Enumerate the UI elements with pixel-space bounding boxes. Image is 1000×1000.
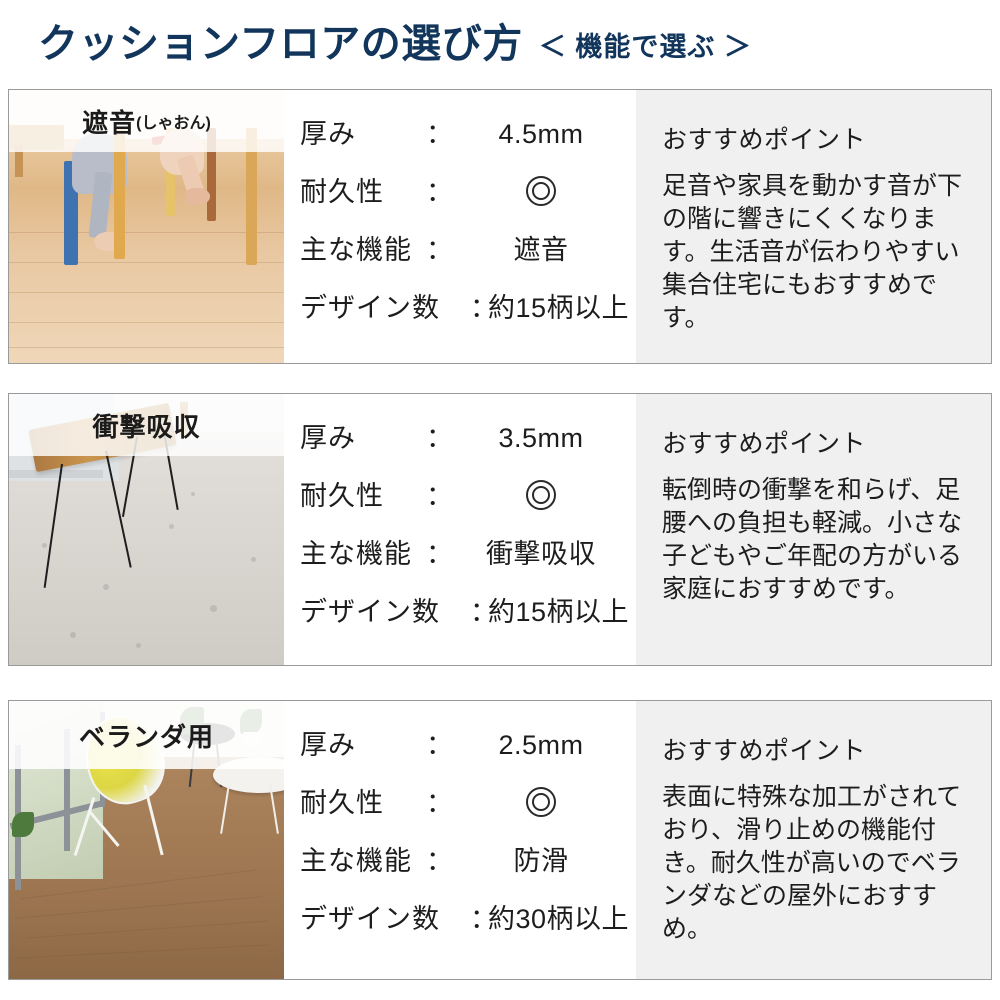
feature-card-shaon: 遮音 (しゃおん) 厚み ： 4.5mm 耐久性 ： 主な機能 ： 遮音 デザイ… (8, 89, 992, 364)
floor-plank-line (9, 292, 284, 293)
card-recommendation: おすすめポイント 足音や家具を動かす音が下の階に響きにくくなります。生活音が伝わ… (636, 90, 991, 363)
spec-row-durability: 耐久性 ： (300, 781, 636, 839)
photo-baseboard (9, 470, 103, 478)
floor-speckle (136, 643, 141, 648)
card-badge-label: 衝撃吸収 (92, 407, 200, 444)
spec-colon: ： (470, 897, 488, 936)
spec-row-thickness: 厚み ： 3.5mm (300, 416, 636, 474)
floor-grain-line (26, 921, 267, 939)
spec-row-main-function: 主な機能 ： 遮音 (300, 228, 636, 286)
spec-colon: ： (470, 286, 488, 325)
spec-value-design-count: 約15柄以上 (488, 590, 639, 629)
recommendation-body: 転倒時の衝撃を和らげ、足腰への負担も軽減。小さな子どもやご年配の方がいる家庭にお… (662, 474, 967, 606)
spec-colon: ： (426, 839, 460, 878)
card-spec-table: 厚み ： 3.5mm 耐久性 ： 主な機能 ： 衝撃吸収 デザイン数 ： 約15… (284, 394, 636, 665)
floor-plank-line (9, 322, 284, 323)
floor-speckle (103, 584, 109, 590)
recommendation-body: 足音や家具を動かす音が下の階に響きにくくなります。生活音が伝わりやすい集合住宅に… (662, 170, 967, 335)
spec-label-main-function: 主な機能 (300, 532, 426, 571)
spec-value-design-count: 約15柄以上 (488, 286, 639, 325)
card-photo-shaon: 遮音 (しゃおん) (9, 90, 284, 363)
double-circle-icon (526, 480, 556, 510)
card-badge: ベランダ用 (9, 701, 284, 769)
spec-row-design-count: デザイン数 ： 約15柄以上 (300, 590, 636, 648)
card-badge: 遮音 (しゃおん) (9, 90, 284, 152)
spec-label-thickness: 厚み (300, 723, 426, 762)
spec-colon: ： (426, 228, 460, 267)
floor-speckle (169, 524, 174, 529)
spec-row-design-count: デザイン数 ： 約15柄以上 (300, 286, 636, 344)
spec-colon: ： (426, 416, 460, 455)
spec-colon: ： (426, 170, 460, 209)
page-title: クッションフロアの選び方 (38, 24, 523, 64)
floor-grain-line (17, 945, 270, 959)
spec-value-main-function: 防滑 (460, 839, 636, 878)
spec-label-durability: 耐久性 (300, 474, 426, 513)
spec-row-main-function: 主な機能 ： 防滑 (300, 839, 636, 897)
photo-plant (12, 812, 34, 837)
spec-colon: ： (426, 474, 460, 513)
recommendation-heading: おすすめポイント (662, 731, 967, 767)
spec-label-design-count: デザイン数 (300, 897, 470, 936)
card-spec-table: 厚み ： 4.5mm 耐久性 ： 主な機能 ： 遮音 デザイン数 ： 約15柄以… (284, 90, 636, 363)
spec-row-thickness: 厚み ： 2.5mm (300, 723, 636, 781)
spec-value-thickness: 4.5mm (460, 119, 636, 150)
spec-value-main-function: 遮音 (460, 228, 636, 267)
spec-value-durability (460, 480, 636, 512)
spec-colon: ： (426, 723, 460, 762)
card-recommendation: おすすめポイント 転倒時の衝撃を和らげ、足腰への負担も軽減。小さな子どもやご年配… (636, 394, 991, 665)
floor-speckle (210, 605, 217, 612)
spec-value-durability (460, 176, 636, 208)
page-subtitle: ＜ 機能で選ぶ ＞ (539, 25, 752, 64)
floor-speckle (42, 543, 47, 548)
page-header: クッションフロアの選び方 ＜ 機能で選ぶ ＞ (0, 0, 1000, 88)
card-photo-shock-absorbing: 衝撃吸収 (9, 394, 284, 665)
card-badge-label: ベランダ用 (79, 717, 214, 754)
photo-bench-leg (44, 464, 63, 588)
spec-label-main-function: 主な機能 (300, 228, 426, 267)
spec-label-durability: 耐久性 (300, 781, 426, 820)
spec-colon: ： (426, 781, 460, 820)
floor-plank-line (9, 347, 284, 348)
photo-child-foot (185, 188, 210, 204)
recommendation-body: 表面に特殊な加工がされており、滑り止めの機能付き。耐久性が高いのでベランダなどの… (662, 781, 967, 946)
spec-colon: ： (470, 590, 488, 629)
spec-row-design-count: デザイン数 ： 約30柄以上 (300, 897, 636, 955)
recommendation-heading: おすすめポイント (662, 120, 967, 156)
card-recommendation: おすすめポイント 表面に特殊な加工がされており、滑り止めの機能付き。耐久性が高い… (636, 701, 991, 979)
spec-row-thickness: 厚み ： 4.5mm (300, 112, 636, 170)
card-photo-balcony: ベランダ用 (9, 701, 284, 979)
spec-value-main-function: 衝撃吸収 (460, 532, 636, 571)
spec-value-durability (460, 787, 636, 819)
spec-label-design-count: デザイン数 (300, 590, 470, 629)
photo-chair-leg (143, 785, 163, 856)
spec-label-design-count: デザイン数 (300, 286, 470, 325)
floor-speckle (191, 492, 195, 496)
floor-grain-line (15, 896, 262, 919)
feature-card-shock-absorbing: 衝撃吸収 厚み ： 3.5mm 耐久性 ： 主な機能 ： 衝撃吸収 デザイン数 (8, 393, 992, 666)
spec-row-durability: 耐久性 ： (300, 474, 636, 532)
card-badge-ruby: (しゃおん) (136, 109, 211, 133)
feature-card-balcony: ベランダ用 厚み ： 2.5mm 耐久性 ： 主な機能 ： 防滑 デザイン数 (8, 700, 992, 980)
card-spec-table: 厚み ： 2.5mm 耐久性 ： 主な機能 ： 防滑 デザイン数 ： 約30柄以… (284, 701, 636, 979)
spec-row-durability: 耐久性 ： (300, 170, 636, 228)
spec-colon: ： (426, 532, 460, 571)
recommendation-heading: おすすめポイント (662, 424, 967, 460)
photo-white-table-leg (220, 785, 230, 835)
spec-value-design-count: 約30柄以上 (488, 897, 639, 936)
spec-label-main-function: 主な機能 (300, 839, 426, 878)
card-badge-label: 遮音 (82, 103, 136, 140)
spec-value-thickness: 3.5mm (460, 423, 636, 454)
floor-plank-line (9, 232, 284, 233)
floor-plank-line (9, 262, 284, 263)
double-circle-icon (526, 787, 556, 817)
spec-label-thickness: 厚み (300, 416, 426, 455)
spec-label-durability: 耐久性 (300, 170, 426, 209)
spec-colon: ： (426, 112, 460, 151)
spec-value-thickness: 2.5mm (460, 730, 636, 761)
floor-speckle (70, 632, 76, 638)
card-badge: 衝撃吸収 (9, 394, 284, 456)
spec-row-main-function: 主な機能 ： 衝撃吸収 (300, 532, 636, 590)
double-circle-icon (526, 176, 556, 206)
spec-label-thickness: 厚み (300, 112, 426, 151)
floor-speckle (251, 557, 256, 562)
infographic-page: クッションフロアの選び方 ＜ 機能で選ぶ ＞ 遮音 (0, 0, 1000, 1000)
